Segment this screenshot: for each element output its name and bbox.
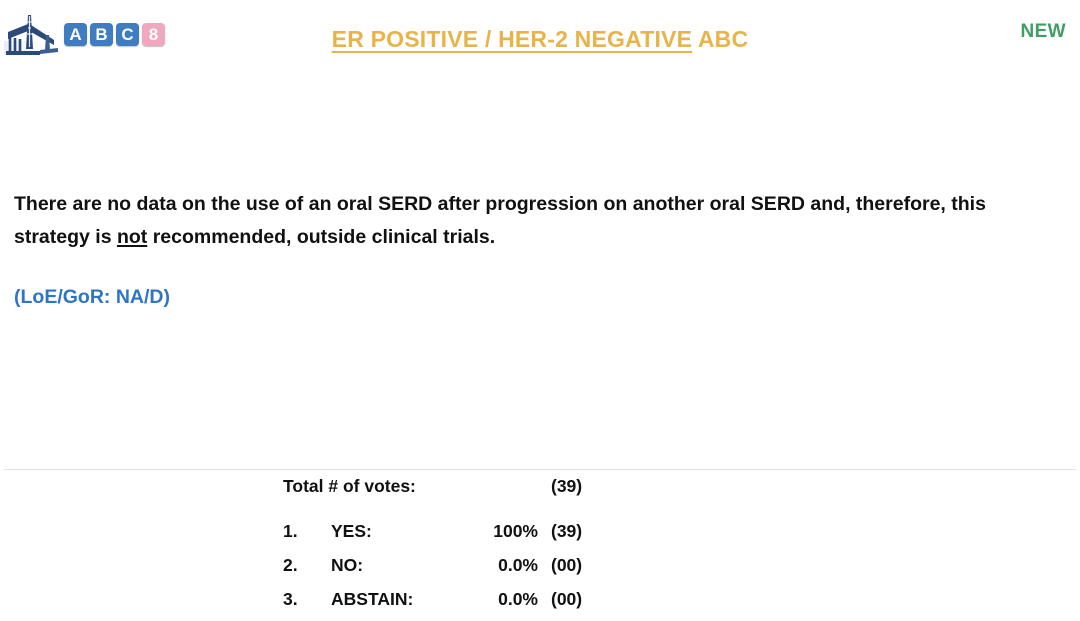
- new-badge: NEW: [1020, 21, 1066, 43]
- vote-row-count: (00): [551, 589, 607, 610]
- vote-row-percent: 100%: [430, 521, 538, 542]
- vote-row-number: 3.: [283, 589, 311, 610]
- statement-text-part2: recommended, outside clinical trials.: [147, 226, 495, 248]
- voting-results-panel: Total # of votes: (39) 1. YES: 100% (39)…: [0, 476, 1080, 621]
- vote-row-percent: 0.0%: [430, 589, 538, 610]
- vote-bar-track: [611, 558, 1041, 584]
- vote-row-label: ABSTAIN:: [331, 589, 413, 610]
- vote-row-total: Total # of votes: (39): [0, 476, 1080, 506]
- total-votes-label: Total # of votes:: [283, 476, 416, 497]
- vote-row-number: 1.: [283, 521, 311, 542]
- vote-row-label: NO:: [331, 555, 363, 576]
- total-votes-count: (39): [551, 476, 607, 497]
- section-divider: [4, 469, 1076, 470]
- vote-bar-track: [611, 592, 1041, 618]
- page-title: ER POSITIVE / HER-2 NEGATIVE ABC: [0, 26, 1080, 53]
- table-row: 2. NO: 0.0% (00): [0, 555, 1080, 585]
- loe-gor-label: (LoE/GoR: NA/D): [14, 286, 170, 309]
- vote-bar-track: [611, 524, 1041, 550]
- vote-row-percent: 0.0%: [430, 555, 538, 576]
- vote-row-count: (00): [551, 555, 607, 576]
- vote-row-count: (39): [551, 521, 607, 542]
- page-title-underlined: ER POSITIVE / HER-2 NEGATIVE: [332, 26, 692, 52]
- statement-emphasis-not: not: [117, 226, 147, 248]
- recommendation-statement: There are no data on the use of an oral …: [14, 188, 1014, 254]
- table-row: 1. YES: 100% (39): [0, 521, 1080, 551]
- slide-header: A B C 8 ER POSITIVE / HER-2 NEGATIVE ABC…: [0, 0, 1080, 78]
- vote-row-number: 2.: [283, 555, 311, 576]
- page-title-suffix: ABC: [692, 26, 748, 52]
- vote-row-label: YES:: [331, 521, 372, 542]
- table-row: 3. ABSTAIN: 0.0% (00): [0, 589, 1080, 619]
